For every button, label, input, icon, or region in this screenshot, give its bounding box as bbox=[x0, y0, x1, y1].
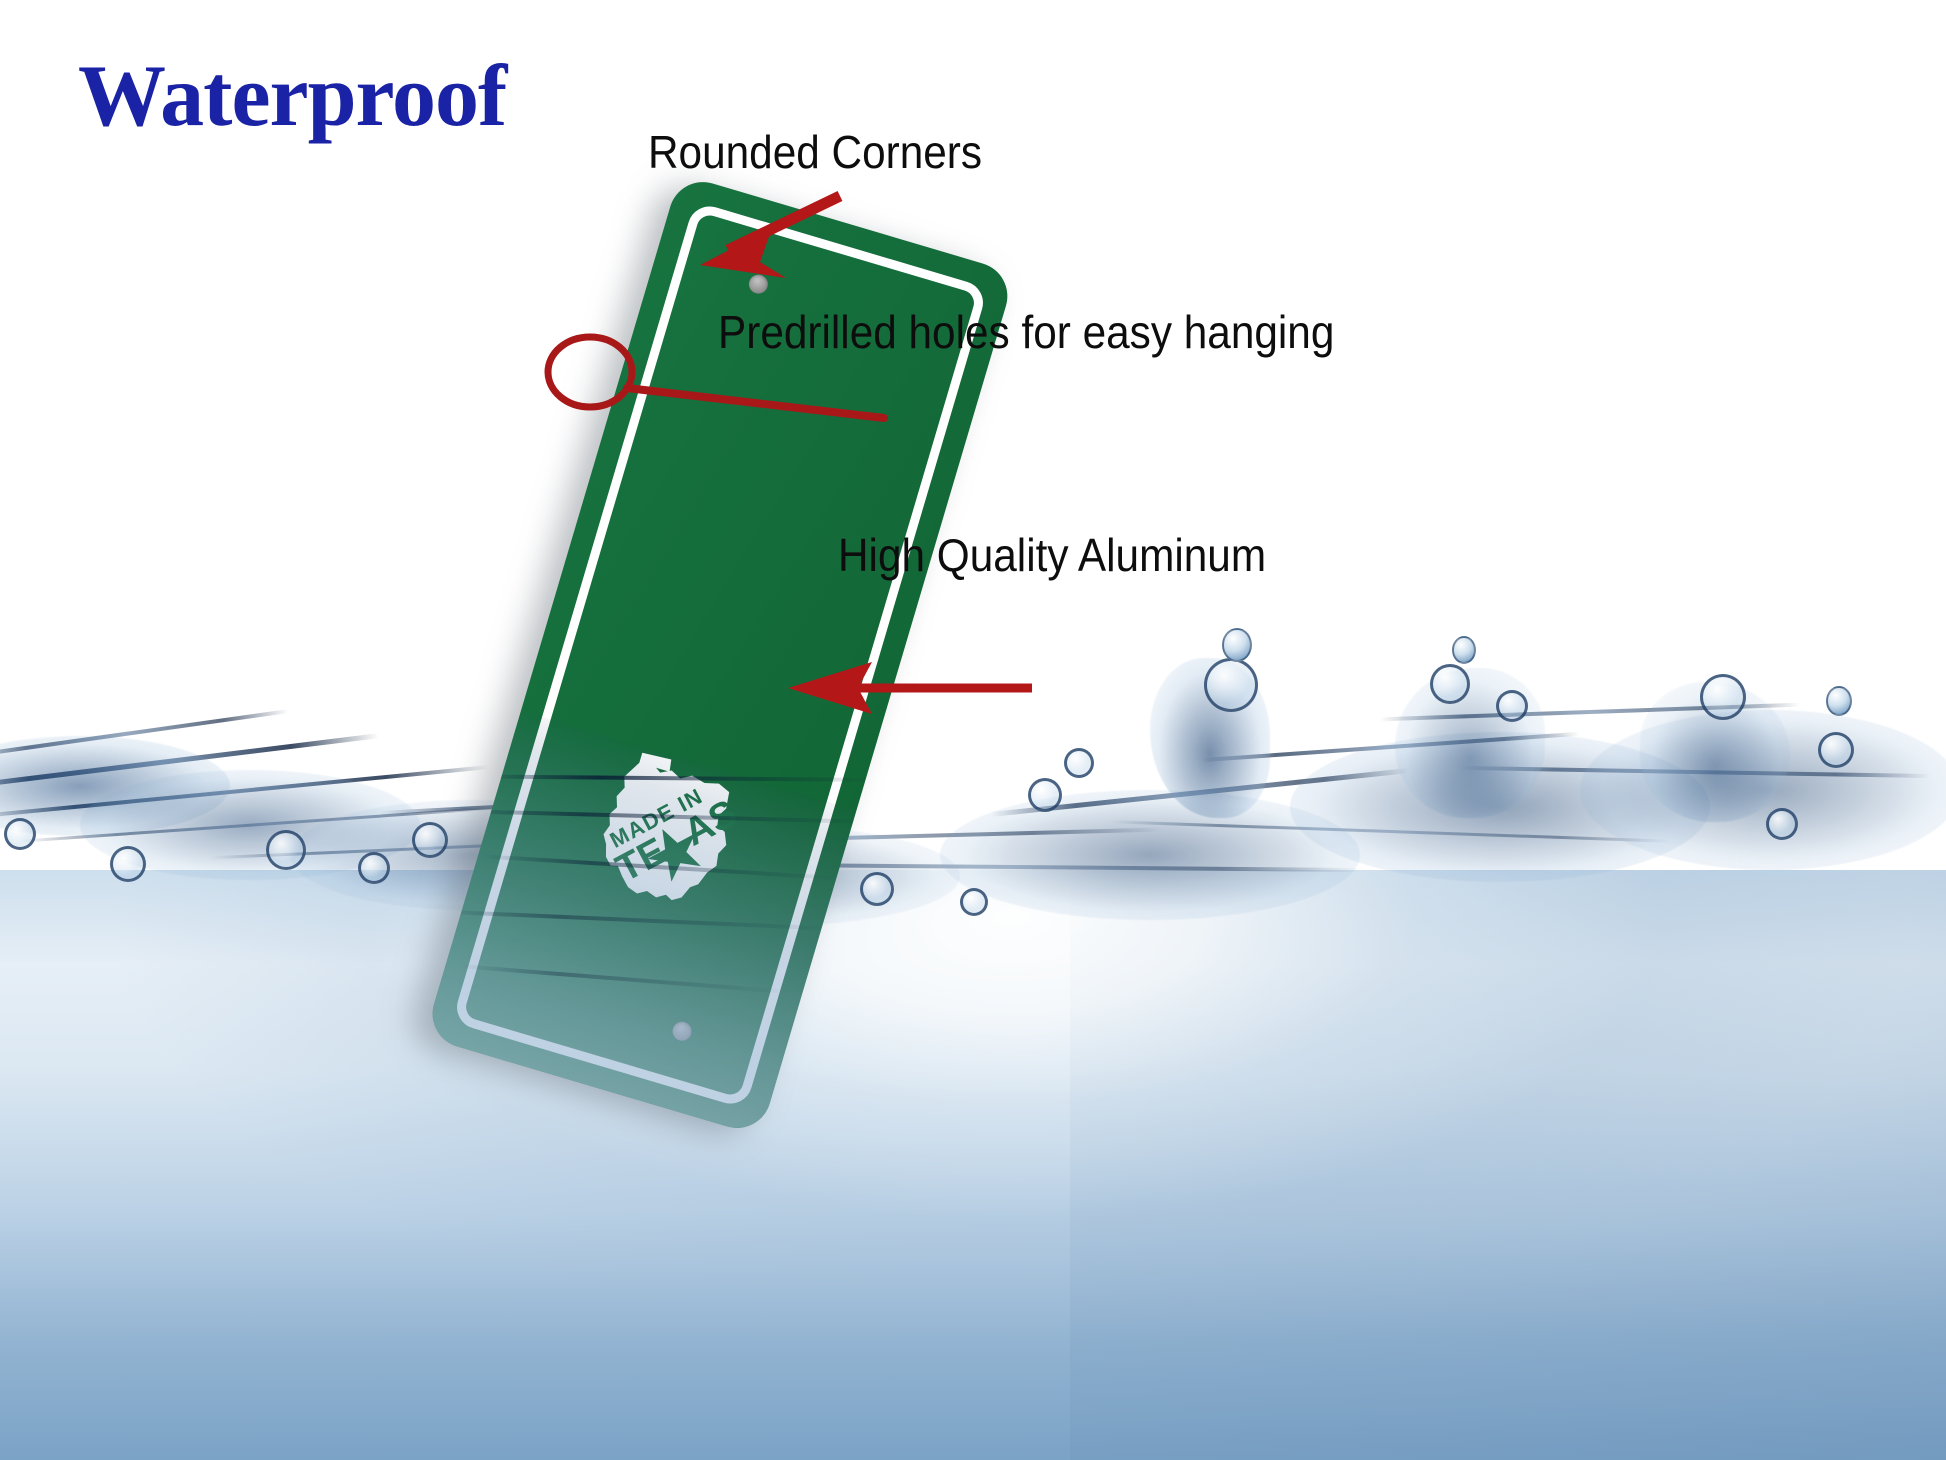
callout-label-high-quality-aluminum: High Quality Aluminum bbox=[838, 528, 1266, 582]
annotation-layer bbox=[0, 0, 1946, 1460]
callout-label-rounded-corners: Rounded Corners bbox=[648, 125, 982, 179]
page-title: Waterproof bbox=[78, 46, 506, 147]
water-body bbox=[0, 870, 1946, 1460]
product-feature-graphic: MADE IN TE AS bbox=[0, 0, 1946, 1460]
water-body-right-shade bbox=[1070, 870, 1946, 1460]
callout-label-predrilled-holes: Predrilled holes for easy hanging bbox=[718, 305, 1334, 359]
made-in-texas-logo: MADE IN TE AS bbox=[580, 747, 755, 922]
water-background bbox=[0, 0, 1946, 1460]
water-surface-splash bbox=[0, 640, 1946, 890]
